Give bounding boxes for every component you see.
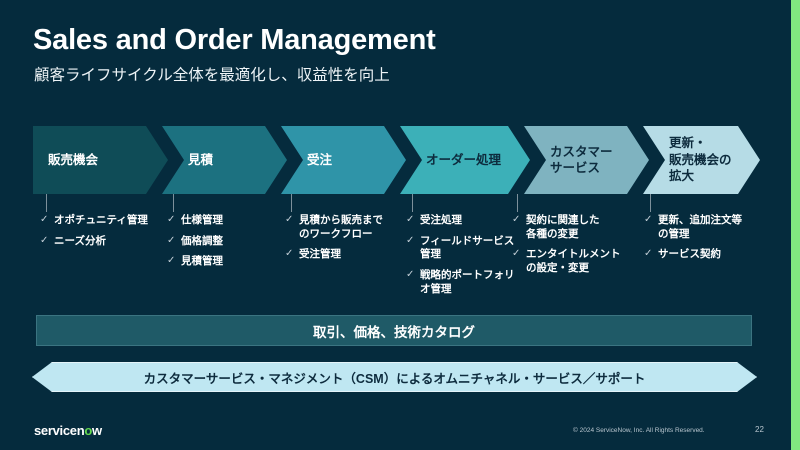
list-item: ✓ エンタイトルメント の設定・変更 bbox=[512, 248, 632, 275]
stage-bullets-1: ✓ オポチュニティ管理 ✓ ニーズ分析 bbox=[40, 214, 165, 306]
logo-suffix: w bbox=[92, 423, 102, 438]
bullet-label: 価格調整 bbox=[181, 235, 223, 249]
list-item: ✓ サービス契約 bbox=[644, 248, 764, 262]
check-icon: ✓ bbox=[406, 235, 420, 248]
list-item: ✓ 契約に関連した 各種の変更 bbox=[512, 214, 632, 241]
csm-bar-label: カスタマーサービス・マネジメント（CSM）によるオムニチャネル・サービス／サポー… bbox=[144, 368, 646, 387]
list-item: ✓ 見積管理 bbox=[167, 255, 282, 269]
stage-label-4: オーダー処理 bbox=[400, 152, 511, 169]
bullet-label: 見積管理 bbox=[181, 255, 223, 269]
check-icon: ✓ bbox=[167, 255, 181, 268]
check-icon: ✓ bbox=[285, 248, 299, 261]
bullet-label: ニーズ分析 bbox=[54, 235, 106, 249]
logo-prefix: servicen bbox=[34, 423, 84, 438]
stage-label-1: 販売機会 bbox=[33, 152, 108, 169]
stage-connector-5 bbox=[517, 194, 518, 212]
bullet-label: オポチュニティ管理 bbox=[54, 214, 148, 228]
bullet-label: 受注処理 bbox=[420, 214, 462, 228]
csm-arrow-bar[interactable]: カスタマーサービス・マネジメント（CSM）によるオムニチャネル・サービス／サポー… bbox=[32, 362, 757, 392]
list-item: ✓ 見積から販売まで のワークフロー bbox=[285, 214, 403, 241]
check-icon: ✓ bbox=[167, 214, 181, 227]
check-icon: ✓ bbox=[40, 235, 54, 248]
bullet-label: 戦略的ポートフォリ オ管理 bbox=[420, 269, 515, 296]
check-icon: ✓ bbox=[512, 214, 526, 227]
stage-bullets-4: ✓ 受注処理 ✓ フィールドサービス 管理 ✓ 戦略的ポートフォリ オ管理 bbox=[406, 214, 516, 306]
check-icon: ✓ bbox=[512, 248, 526, 261]
check-icon: ✓ bbox=[40, 214, 54, 227]
bullet-label: 見積から販売まで のワークフロー bbox=[299, 214, 383, 241]
stage-label-3: 受注 bbox=[281, 152, 342, 169]
stage-bullets-5: ✓ 契約に関連した 各種の変更 ✓ エンタイトルメント の設定・変更 bbox=[512, 214, 632, 306]
check-icon: ✓ bbox=[285, 214, 299, 227]
list-item: ✓ 更新、追加注文等 の管理 bbox=[644, 214, 764, 241]
list-item: ✓ 仕様管理 bbox=[167, 214, 282, 228]
page-title: Sales and Order Management bbox=[33, 24, 436, 57]
check-icon: ✓ bbox=[644, 214, 658, 227]
process-chevron-band: 販売機会 見積 受注 オーダー処理 カスタマー サービス 更新・ 販売機会の 拡… bbox=[33, 126, 760, 194]
bullet-label: 仕様管理 bbox=[181, 214, 223, 228]
servicenow-logo: servicenow bbox=[34, 423, 102, 438]
catalog-bar-label: 取引、価格、技術カタログ bbox=[313, 321, 475, 341]
stage-label-2: 見積 bbox=[162, 152, 223, 169]
list-item: ✓ ニーズ分析 bbox=[40, 235, 165, 249]
stage-connector-1 bbox=[46, 194, 47, 212]
logo-accent-o: o bbox=[84, 423, 92, 438]
catalog-bar[interactable]: 取引、価格、技術カタログ bbox=[36, 315, 752, 346]
list-item: ✓ オポチュニティ管理 bbox=[40, 214, 165, 228]
stage-chevron-6[interactable]: 更新・ 販売機会の 拡大 bbox=[643, 126, 760, 194]
list-item: ✓ 受注処理 bbox=[406, 214, 516, 228]
bullet-label: 契約に関連した 各種の変更 bbox=[526, 214, 600, 241]
bullet-label: フィールドサービス 管理 bbox=[420, 235, 514, 262]
check-icon: ✓ bbox=[644, 248, 658, 261]
stage-chevron-5[interactable]: カスタマー サービス bbox=[524, 126, 649, 194]
stage-chevron-4[interactable]: オーダー処理 bbox=[400, 126, 530, 194]
copyright-text: © 2024 ServiceNow, Inc. All Rights Reser… bbox=[573, 427, 705, 434]
list-item: ✓ 受注管理 bbox=[285, 248, 403, 262]
page-subtitle: 顧客ライフサイクル全体を最適化し、収益性を向上 bbox=[34, 63, 390, 85]
stage-chevron-3[interactable]: 受注 bbox=[281, 126, 406, 194]
stage-bullets-3: ✓ 見積から販売まで のワークフロー ✓ 受注管理 bbox=[285, 214, 403, 306]
check-icon: ✓ bbox=[406, 214, 420, 227]
stage-label-5: カスタマー サービス bbox=[524, 144, 623, 177]
stage-chevron-2[interactable]: 見積 bbox=[162, 126, 287, 194]
check-icon: ✓ bbox=[406, 269, 420, 282]
stage-chevron-1[interactable]: 販売機会 bbox=[33, 126, 168, 194]
list-item: ✓ 戦略的ポートフォリ オ管理 bbox=[406, 269, 516, 296]
stage-bullets-6: ✓ 更新、追加注文等 の管理 ✓ サービス契約 bbox=[644, 214, 764, 306]
accent-edge-strip bbox=[791, 0, 800, 450]
list-item: ✓ フィールドサービス 管理 bbox=[406, 235, 516, 262]
stage-bullets-2: ✓ 仕様管理 ✓ 価格調整 ✓ 見積管理 bbox=[167, 214, 282, 306]
check-icon: ✓ bbox=[167, 235, 181, 248]
bullet-label: 受注管理 bbox=[299, 248, 341, 262]
list-item: ✓ 価格調整 bbox=[167, 235, 282, 249]
slide-canvas: Sales and Order Management 顧客ライフサイクル全体を最… bbox=[0, 0, 800, 450]
stage-label-6: 更新・ 販売機会の 拡大 bbox=[643, 135, 742, 185]
stage-connector-3 bbox=[291, 194, 292, 212]
stage-connector-4 bbox=[412, 194, 413, 212]
bullet-label: サービス契約 bbox=[658, 248, 721, 262]
bullet-label: 更新、追加注文等 の管理 bbox=[658, 214, 742, 241]
page-number: 22 bbox=[755, 425, 764, 434]
stage-connector-2 bbox=[173, 194, 174, 212]
bullet-label: エンタイトルメント の設定・変更 bbox=[526, 248, 621, 275]
stage-connector-6 bbox=[650, 194, 651, 212]
